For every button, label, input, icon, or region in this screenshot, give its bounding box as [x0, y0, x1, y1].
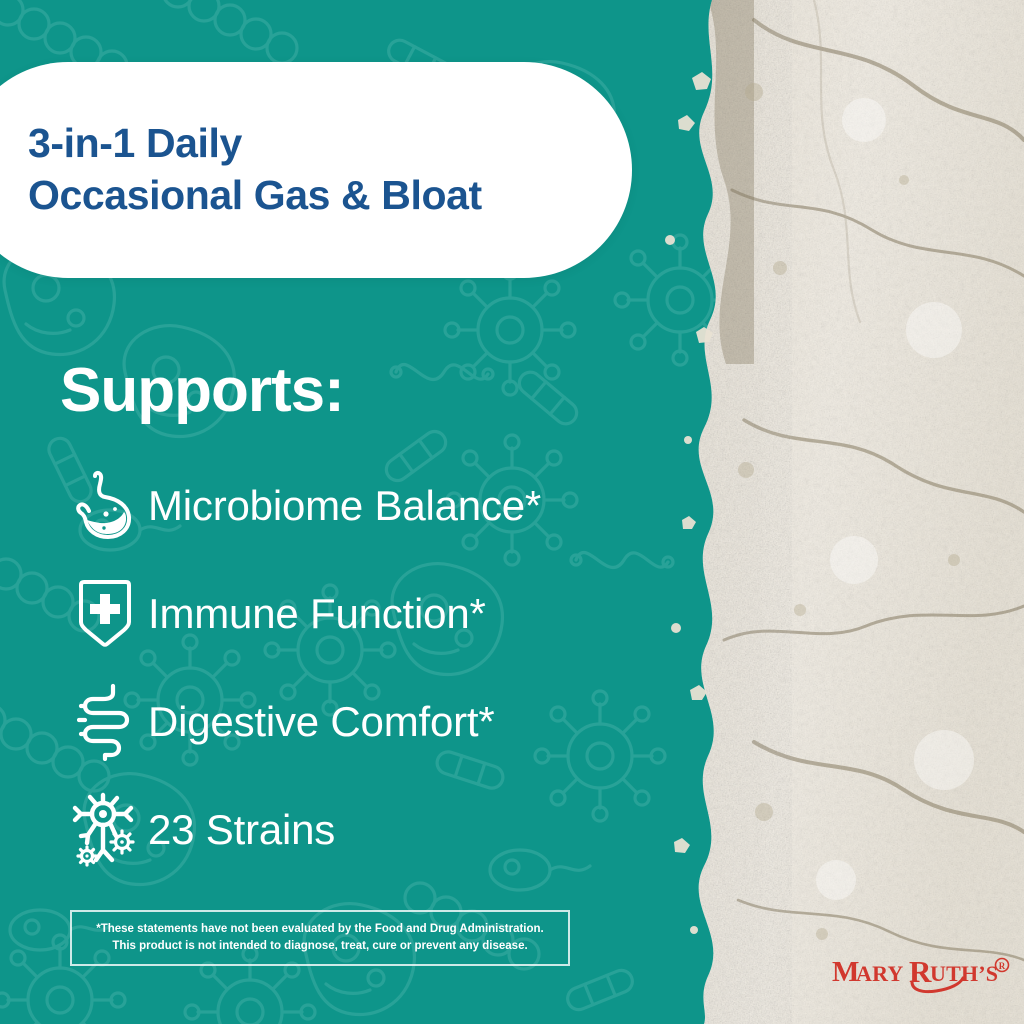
page-title: 3-in-1 Daily Occasional Gas & Bloat	[28, 118, 482, 221]
list-item-label: 23 Strains	[148, 806, 335, 854]
list-item: Immune Function*	[62, 560, 682, 668]
svg-text:R: R	[999, 961, 1006, 971]
svg-text:M: M	[832, 956, 859, 988]
headline-line-1: 3-in-1 Daily	[28, 118, 482, 170]
supports-list: Microbiome Balance* Immune Function*	[62, 452, 682, 884]
microbe-cluster-icon	[62, 782, 148, 878]
svg-text:ARY: ARY	[856, 961, 904, 986]
list-item: 23 Strains	[62, 776, 682, 884]
disclaimer-line-2: This product is not intended to diagnose…	[82, 938, 558, 955]
shield-plus-icon	[62, 566, 148, 662]
headline-line-2: Occasional Gas & Bloat	[28, 170, 482, 222]
svg-text:UTH’S: UTH’S	[930, 961, 998, 986]
stomach-icon	[62, 458, 148, 554]
list-item-label: Immune Function*	[148, 590, 486, 638]
intestine-icon	[62, 674, 148, 770]
list-item-label: Microbiome Balance*	[148, 482, 541, 530]
supports-heading: Supports:	[60, 355, 344, 426]
fda-disclaimer: *These statements have not been evaluate…	[70, 910, 570, 966]
product-marketing-image: 3-in-1 Daily Occasional Gas & Bloat Supp…	[0, 0, 1024, 1024]
list-item: Microbiome Balance*	[62, 452, 682, 560]
maryruths-logo: M ARY R UTH’S R	[832, 948, 1012, 994]
list-item-label: Digestive Comfort*	[148, 698, 495, 746]
headline-card: 3-in-1 Daily Occasional Gas & Bloat	[0, 62, 632, 278]
list-item: Digestive Comfort*	[62, 668, 682, 776]
disclaimer-line-1: *These statements have not been evaluate…	[82, 921, 558, 938]
